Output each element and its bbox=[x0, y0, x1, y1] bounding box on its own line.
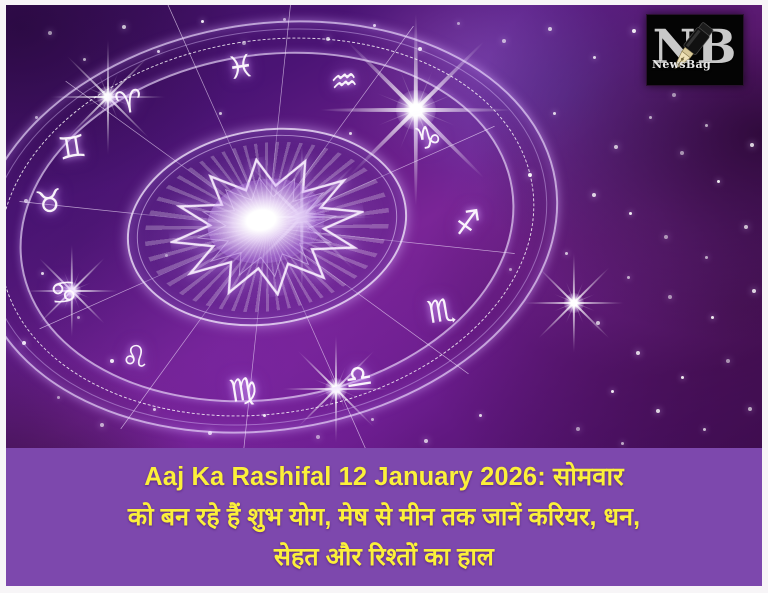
zodiac-glyph-aries: ♈ bbox=[113, 86, 145, 121]
zodiac-glyph-capricorn: ♑ bbox=[412, 121, 444, 156]
zodiac-glyph-aquarius: ♒ bbox=[328, 65, 360, 100]
caption-line-3: सेहत और रिश्तों का हाल bbox=[18, 537, 750, 577]
zodiac-glyph-scorpio: ♏ bbox=[425, 294, 457, 329]
caption-band: Aaj Ka Rashifal 12 January 2026: सोमवार … bbox=[6, 448, 762, 586]
rashifal-poster: ♈♓♒♑♐♏♎♍♌♋♉♊ NB NewsBag Aaj Ka Rashifal … bbox=[0, 0, 768, 593]
caption-line-1: Aaj Ka Rashifal 12 January 2026: सोमवार bbox=[18, 457, 750, 497]
zodiac-glyph-pisces: ♓ bbox=[225, 51, 257, 86]
zodiac-glyph-virgo: ♍ bbox=[227, 373, 259, 408]
poster-inner-frame: ♈♓♒♑♐♏♎♍♌♋♉♊ NB NewsBag Aaj Ka Rashifal … bbox=[6, 5, 762, 586]
zodiac-glyph-leo: ♌ bbox=[119, 341, 151, 376]
zodiac-glyph-libra: ♎ bbox=[343, 360, 375, 395]
zodiac-glyph-cancer: ♋ bbox=[48, 276, 80, 311]
zodiac-glyph-gemini: ♊ bbox=[56, 131, 88, 166]
caption-line-2: को बन रहे हैं शुभ योग, मेष से मीन तक जान… bbox=[18, 497, 750, 537]
newsbag-logo[interactable]: NB NewsBag bbox=[646, 14, 744, 86]
zodiac-glyph-taurus: ♉ bbox=[33, 185, 65, 220]
logo-brand-text: NewsBag bbox=[652, 58, 711, 71]
zodiac-glyph-sagittarius: ♐ bbox=[452, 206, 484, 241]
